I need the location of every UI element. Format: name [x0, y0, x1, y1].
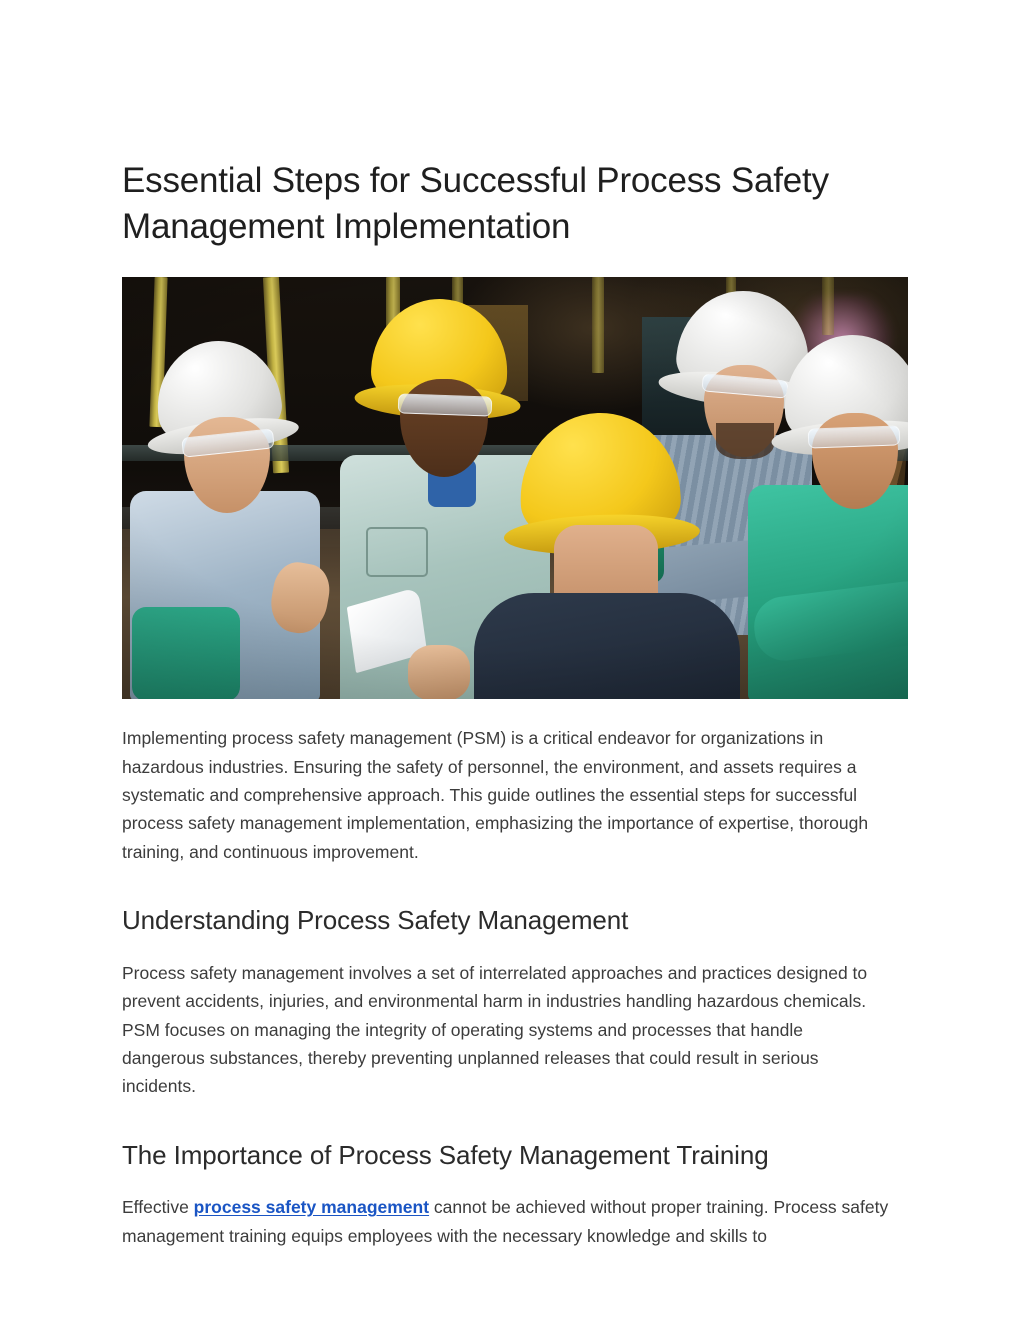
safety-glasses: [808, 426, 901, 449]
worker-sleeve: [132, 607, 240, 699]
section-heading-understanding-psm: Understanding Process Safety Management: [122, 904, 890, 938]
section-heading-importance-of-training: The Importance of Process Safety Managem…: [122, 1139, 890, 1173]
shirt-pocket: [366, 527, 428, 577]
section-paragraph-understanding-psm: Process safety management involves a set…: [122, 959, 890, 1101]
worker-torso: [474, 593, 740, 699]
process-safety-management-link[interactable]: process safety management: [194, 1197, 429, 1217]
safety-glasses: [398, 394, 493, 417]
paragraph-text-before-link: Effective: [122, 1197, 194, 1217]
document-content: Essential Steps for Successful Process S…: [122, 0, 890, 1250]
document-page: Essential Steps for Successful Process S…: [0, 0, 1024, 1325]
industrial-workers-photo: [122, 277, 908, 699]
page-title: Essential Steps for Successful Process S…: [122, 0, 890, 250]
intro-paragraph: Implementing process safety management (…: [122, 724, 890, 866]
hero-image: [122, 277, 908, 699]
steel-beam: [592, 277, 604, 373]
worker-beard: [716, 423, 774, 459]
section-paragraph-importance-of-training: Effective process safety management cann…: [122, 1193, 890, 1250]
worker-hand: [408, 645, 470, 699]
steel-beam: [822, 277, 834, 335]
